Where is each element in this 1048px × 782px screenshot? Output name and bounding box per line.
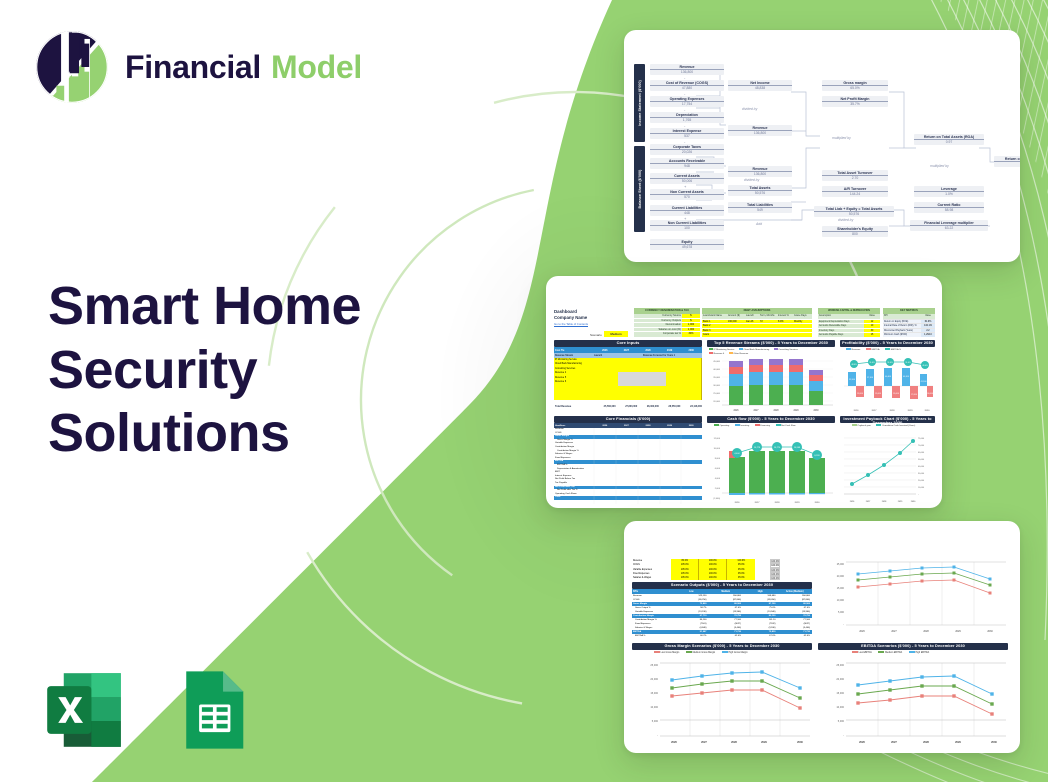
svg-text:2026: 2026	[671, 740, 677, 744]
scenario-outputs-header: Scenario Outputs ($'000) - 5 Years to De…	[632, 582, 812, 589]
headline-line-2: Security	[48, 339, 448, 403]
svg-text:2028: 2028	[731, 740, 737, 744]
svg-text:2028: 2028	[775, 502, 781, 504]
promo-banner: FinancialModel Smart Home Security Solut…	[0, 0, 1048, 782]
scenario-summary-chart: 25,00020,00015,000 10,0005,000- 2026202	[818, 557, 1008, 635]
svg-text:10,770: 10,770	[774, 447, 781, 449]
svg-text:2030: 2030	[815, 502, 821, 504]
ebitda-scenarios-title: EBITDA Scenarios ($'000) - 5 Years to De…	[818, 643, 1008, 650]
scenario-input-table: Revenue 80.0% 100.0% 120.0% 100.0% COGS …	[632, 559, 780, 580]
profitability-legend: Revenue EBITDA EBITDA %	[846, 348, 901, 351]
gross-margin-legend: Low Gross Margin Medium Gross Margin Hig…	[654, 651, 748, 654]
svg-text:2026: 2026	[733, 410, 739, 412]
revenue-streams-chart-title: Top 5 Revenue Streams ($'000) - 5 Years …	[707, 340, 835, 347]
operator-multiplied-by: multiplied by	[832, 136, 851, 140]
svg-text:6,000: 6,000	[715, 468, 721, 470]
node-roe: Return on Equity (ROE)61.03	[994, 156, 1020, 167]
svg-text:10,000: 10,000	[650, 706, 658, 709]
svg-text:2029: 2029	[793, 410, 799, 412]
svg-text:2029: 2029	[898, 501, 903, 503]
node-equity: Equity49,678	[650, 239, 724, 250]
kpi-table: KPIValue Return on Equity (ROE)61.0% Int…	[883, 314, 935, 337]
svg-text:-: -	[843, 734, 844, 737]
svg-text:15,000: 15,000	[893, 393, 899, 395]
investment-payback-chart: 75,00070,00060,000 50,00040,00030,000 20…	[840, 431, 935, 507]
headline-line-1: Smart Home	[48, 275, 448, 339]
svg-text:2026: 2026	[854, 410, 860, 412]
cash-flow-chart: 12,00010,0008,000 6,0004,0002,000 (2,000…	[707, 431, 835, 507]
node-cogs: Cost of Revenue (COGS)47,880	[650, 80, 724, 91]
svg-text:25,000: 25,000	[713, 393, 720, 395]
income-statement-band: Income Statement ($'000)	[634, 64, 645, 142]
svg-text:25,000: 25,000	[836, 664, 844, 667]
node-ar-turnover: A/R Turnover144.24	[822, 186, 888, 197]
svg-text:41,100: 41,100	[921, 381, 927, 383]
financial-dashboard-screenshot[interactable]: Dashboard Company Name Go to the Table o…	[546, 276, 942, 508]
svg-text:15,000: 15,000	[836, 692, 844, 695]
gross-margin-scenarios-title: Gross Margin Scenarios ($'000) - 5 Years…	[632, 643, 812, 650]
scenario-label: Scenario	[590, 333, 602, 337]
ebitda-legend: Low EBITDA Medium EBITDA High EBITDA	[852, 651, 929, 654]
brand-name-part1: Financial	[125, 49, 261, 85]
headline-line-3: Solutions	[48, 402, 448, 466]
operator-divided-by: divided by	[742, 107, 757, 111]
scenario-analysis-screenshot[interactable]: Revenue 80.0% 100.0% 120.0% 100.0% COGS …	[624, 521, 1020, 753]
gross-margin-scenarios-chart: 25,00020,00015,000 10,0005,000- 2026202	[632, 658, 812, 746]
node-depreciation: Depreciation1,765	[650, 112, 724, 123]
node-revenue-3: Revenue136,800	[728, 166, 792, 177]
node-interest-expense: Interest Expense537	[650, 128, 724, 139]
svg-text:10,000: 10,000	[918, 487, 925, 489]
node-gross-margin: Gross margin65.0%	[822, 80, 888, 91]
svg-text:40,000: 40,000	[918, 466, 925, 468]
svg-text:2028: 2028	[773, 410, 779, 412]
node-total-assets: Total Assets50,576	[728, 185, 792, 196]
svg-text:30,000: 30,000	[918, 473, 925, 475]
svg-text:2028: 2028	[923, 630, 929, 633]
cash-flow-legend: Operating Investing Financing Net Cash F…	[714, 424, 796, 427]
svg-text:2026: 2026	[735, 502, 741, 504]
svg-text:2027: 2027	[891, 630, 897, 633]
node-current-liabilities: Current Liabilities448	[650, 205, 724, 216]
revenue-streams-stacked-bar-chart: 45,00040,00035,000 30,00025,00020,000	[707, 356, 835, 414]
revenue-streams-legend: IP Monitoring Service Cloud Back Manufac…	[709, 348, 835, 355]
profitability-chart: 48.0%51.0%51.0%51.0%49.0% 31,50037,10040…	[840, 356, 935, 414]
node-revenue: Revenue136,800	[650, 64, 724, 75]
svg-text:15,000: 15,000	[875, 393, 881, 395]
node-current-assets: Current Assets50,006	[650, 173, 724, 184]
svg-text:25,000: 25,000	[650, 664, 658, 667]
node-corporate-taxes: Corporate Taxes20,026	[650, 144, 724, 155]
working-capital-table: AssumptionValue Equipment Depreciation D…	[818, 314, 880, 337]
svg-text:31,500: 31,500	[849, 379, 855, 381]
svg-text:20,000: 20,000	[713, 401, 720, 403]
svg-text:2030: 2030	[987, 630, 993, 633]
node-total-asset-turnover: Total Asset Turnover2.70	[822, 170, 888, 181]
svg-text:-: -	[843, 623, 844, 626]
svg-text:2026: 2026	[850, 501, 855, 503]
google-sheets-icon[interactable]	[166, 664, 258, 756]
svg-text:2029: 2029	[795, 502, 801, 504]
svg-text:2028: 2028	[923, 740, 929, 744]
svg-text:49.0%: 49.0%	[922, 365, 928, 367]
svg-text:12,000: 12,000	[714, 438, 721, 440]
svg-text:17,000: 17,000	[911, 394, 917, 396]
brand-logo: FinancialModel	[33, 28, 362, 106]
svg-text:25,000: 25,000	[837, 563, 845, 566]
dashboard-sheet: Dashboard Company Name Go to the Table o…	[546, 276, 942, 508]
svg-text:-: -	[918, 494, 919, 496]
brand-name: FinancialModel	[125, 51, 362, 83]
node-shareholders-equity: Shareholder's Equity800	[822, 226, 888, 237]
core-financials-table: Revenue COGS Gross Margin Gross Margin %…	[554, 428, 702, 504]
svg-text:10,000: 10,000	[714, 448, 721, 450]
svg-text:5,000: 5,000	[652, 720, 659, 723]
svg-text:4,000: 4,000	[715, 478, 721, 480]
core-inputs-header: Core Inputs	[554, 340, 702, 347]
svg-text:2030: 2030	[991, 740, 997, 744]
svg-text:20,000: 20,000	[837, 575, 845, 578]
svg-text:2026: 2026	[859, 740, 865, 744]
node-current-ratio: Current Ratio58.98	[914, 202, 984, 213]
svg-text:20,000: 20,000	[918, 480, 925, 482]
svg-text:2030: 2030	[911, 501, 916, 503]
table-row: EBITDA %60.2%62.0%67.0%62.0%	[632, 634, 812, 638]
svg-text:15,000: 15,000	[837, 587, 845, 590]
svg-text:(2,000): (2,000)	[713, 498, 720, 500]
svg-text:2029: 2029	[955, 630, 961, 633]
profitability-chart-title: Profitability ($'000) - 5 Years to Decem…	[840, 340, 935, 347]
node-total-liabilities: Total Liabilities549	[728, 202, 792, 213]
node-net-income: Net Income48,838	[728, 80, 792, 91]
dashboard-title: Dashboard	[554, 309, 577, 314]
svg-text:40,400: 40,400	[885, 376, 891, 378]
node-non-current-liabilities: Non Current Liabilities100	[650, 220, 724, 231]
svg-text:75,000: 75,000	[918, 438, 925, 440]
payback-chart-title: Investment Payback Chart ($'000) - 5 Yea…	[840, 416, 935, 423]
scenario-outputs-table: Revenue529,130556,800558,480556,800 COGS…	[632, 594, 812, 638]
file-format-icons	[38, 664, 258, 756]
svg-text:35,000: 35,000	[713, 377, 720, 379]
svg-text:30,000: 30,000	[713, 385, 720, 387]
balance-sheet-band: Balance Sheet ($'000)	[634, 146, 645, 232]
svg-text:16,000: 16,000	[927, 393, 933, 395]
svg-text:-: -	[657, 734, 658, 737]
table-row[interactable]: Bank 1 160,000 Jan-26 72 8.0% Monthly	[702, 319, 812, 324]
svg-text:2027: 2027	[866, 501, 871, 503]
dupont-ratio-tree-screenshot[interactable]: Income Statement ($'000) Balance Sheet (…	[624, 30, 1020, 262]
node-leverage: Leverage1.0%	[914, 186, 984, 197]
svg-text:51.0%: 51.0%	[905, 362, 911, 364]
core-inputs-rows: IP Monitoring Service Cloud Back Manufac…	[554, 358, 702, 400]
svg-text:48.0%: 48.0%	[851, 364, 857, 366]
operator-multiplied-by-2: multiplied by	[930, 164, 949, 168]
svg-text:40,100: 40,100	[903, 376, 909, 378]
node-non-current-assets: Non Current Assets570	[650, 189, 724, 200]
svg-text:51.0%: 51.0%	[869, 362, 875, 364]
financial-model-circle-logo	[33, 28, 111, 106]
total-revenue-row: Total Revenue 25,560,000 27,800,000 28,4…	[554, 404, 702, 409]
svg-text:2030: 2030	[813, 410, 819, 412]
svg-text:2029: 2029	[908, 410, 914, 412]
svg-text:2027: 2027	[872, 410, 878, 412]
svg-text:2026: 2026	[859, 630, 865, 633]
svg-text:2028: 2028	[882, 501, 887, 503]
svg-text:10,778: 10,778	[754, 447, 761, 449]
svg-text:20,000: 20,000	[836, 678, 844, 681]
core-financials-header: Core Financials ($'000)	[554, 416, 702, 423]
node-revenue-2: Revenue136,800	[728, 125, 792, 136]
svg-text:10,000: 10,000	[837, 599, 845, 602]
svg-text:50,000: 50,000	[918, 459, 925, 461]
node-total-liab-equity: Total Liab + Equity = Total Assets50,576	[814, 206, 894, 217]
svg-text:2027: 2027	[891, 740, 897, 744]
svg-text:8,000: 8,000	[715, 458, 721, 460]
band-label: Income Statement ($'000)	[638, 80, 642, 126]
operator-divided-by-2: divided by	[744, 178, 759, 182]
payback-legend: Payback year Cumulative Cash Invested (Y…	[852, 424, 915, 427]
ebitda-scenarios-chart: 25,00020,00015,000 10,0005,000- 2026202	[818, 658, 1008, 746]
microsoft-excel-icon[interactable]	[38, 664, 130, 756]
band-label: Balance Sheet ($'000)	[638, 170, 642, 209]
table-row[interactable]: Grant	[702, 332, 812, 337]
svg-text:2029: 2029	[761, 740, 767, 744]
brand-name-part2: Model	[271, 49, 362, 85]
svg-text:5,000: 5,000	[838, 720, 845, 723]
svg-text:2027: 2027	[701, 740, 707, 744]
svg-text:10,568: 10,568	[794, 447, 801, 449]
svg-text:20,000: 20,000	[650, 678, 658, 681]
cash-flow-chart-title: Cash flow ($'000) - 5 Years to December …	[707, 416, 835, 423]
svg-text:2030: 2030	[797, 740, 803, 744]
node-roa: Return on Total Assets (ROA)0.97	[914, 134, 984, 145]
operator-divided-by-3: divided by	[838, 218, 853, 222]
svg-text:60,000: 60,000	[918, 452, 925, 454]
node-opex: Operating Expenses17,754	[650, 96, 724, 107]
node-accounts-receivable: Accounts Receivable948	[650, 158, 724, 169]
page-title: Smart Home Security Solutions	[48, 275, 448, 466]
svg-text:10,000: 10,000	[836, 706, 844, 709]
table-row[interactable]: Salaries & Wages 105.0% 100.0% 95.0% 100…	[632, 576, 780, 580]
svg-text:51.0%: 51.0%	[887, 362, 893, 364]
debt-assumptions-table: Loan/Grant Name Amount ($) Launch Term, …	[702, 314, 812, 337]
svg-text:2027: 2027	[755, 502, 761, 504]
svg-text:8,203: 8,203	[814, 455, 820, 457]
svg-text:2027: 2027	[753, 410, 759, 412]
svg-text:37,100: 37,100	[867, 377, 873, 379]
dashboard-company-name: Company Name	[554, 315, 587, 320]
svg-text:2029: 2029	[955, 740, 961, 744]
svg-text:2030: 2030	[925, 410, 931, 412]
scenario-sheet: Revenue 80.0% 100.0% 120.0% 100.0% COGS …	[624, 521, 1020, 753]
svg-text:5,000: 5,000	[838, 611, 845, 614]
svg-text:4,444: 4,444	[734, 453, 740, 455]
node-financial-leverage-multiplier: Financial Leverage multiplier63.22	[910, 220, 988, 231]
svg-text:70,000: 70,000	[918, 445, 925, 447]
dupont-sheet: Income Statement ($'000) Balance Sheet (…	[624, 30, 1020, 262]
table-of-contents-link[interactable]: Go to the Table of Contents	[554, 322, 588, 326]
svg-text:2028: 2028	[890, 410, 896, 412]
svg-text:13,000: 13,000	[857, 393, 863, 395]
svg-text:40,000: 40,000	[713, 369, 720, 371]
svg-text:2,000: 2,000	[715, 488, 721, 490]
node-net-profit-margin: Net Profit Margin35.7%	[822, 96, 888, 107]
svg-text:45,000: 45,000	[713, 361, 720, 363]
operator-add: Add	[756, 222, 762, 226]
scenario-select[interactable]: Medium	[604, 331, 628, 337]
svg-text:15,000: 15,000	[650, 692, 658, 695]
currency-table: Currency Source$ Currency Outputs$ Denom…	[634, 314, 700, 337]
